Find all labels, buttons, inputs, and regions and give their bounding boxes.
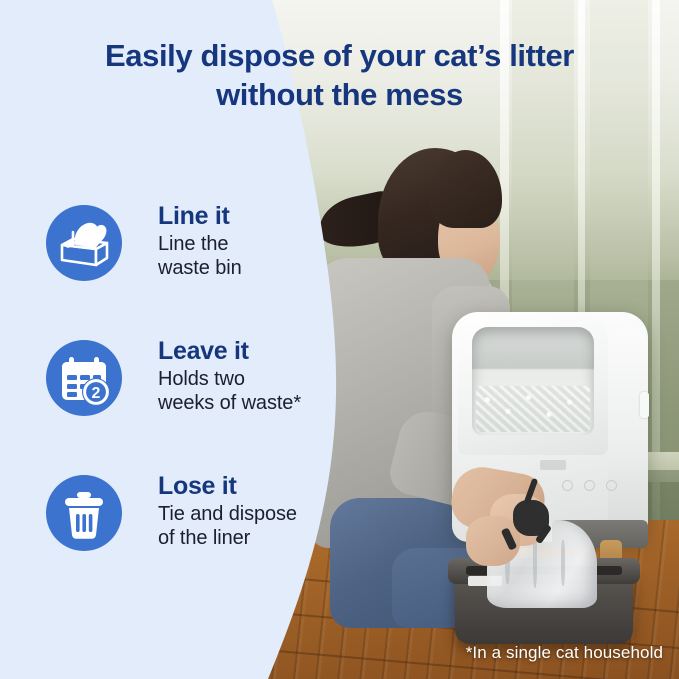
feature-desc-line-2: weeks of waste*: [158, 391, 368, 415]
feature-item-lose-it: Lose it Tie and dispose of the liner: [46, 475, 346, 610]
feature-title: Lose it: [158, 472, 368, 500]
feature-text: Leave it Holds two weeks of waste*: [158, 337, 368, 416]
feature-title: Leave it: [158, 337, 368, 365]
feature-item-line-it: Line it Line the waste bin: [46, 205, 346, 340]
trash-can-icon: [46, 475, 122, 551]
tissue-box-icon: [46, 205, 122, 281]
infographic-canvas: Easily dispose of your cat’s litter with…: [0, 0, 679, 679]
feature-list: Line it Line the waste bin: [46, 205, 346, 610]
footnote-disclaimer: *In a single cat household: [466, 643, 663, 663]
feature-desc-line-2: waste bin: [158, 256, 368, 280]
feature-desc-line-1: Line the: [158, 232, 368, 256]
feature-text: Lose it Tie and dispose of the liner: [158, 472, 368, 551]
calendar-badge-number: 2: [92, 385, 101, 402]
page-title: Easily dispose of your cat’s litter with…: [0, 36, 679, 114]
feature-desc-line-2: of the liner: [158, 526, 368, 550]
feature-desc-line-1: Holds two: [158, 367, 368, 391]
calendar-two-weeks-icon: 2: [46, 340, 122, 416]
feature-text: Line it Line the waste bin: [158, 202, 368, 281]
feature-icon-circle: [46, 205, 122, 281]
litter-box-logo: [540, 460, 566, 470]
feature-item-leave-it: 2 Leave it Holds two weeks of waste*: [46, 340, 346, 475]
litter-box-side-button: [640, 392, 649, 418]
feature-icon-circle: 2: [46, 340, 122, 416]
feature-icon-circle: [46, 475, 122, 551]
litter-crystals: [476, 386, 590, 432]
feature-title: Line it: [158, 202, 368, 230]
headline-line-2: without the mess: [24, 75, 655, 114]
headline-line-1: Easily dispose of your cat’s litter: [24, 36, 655, 75]
feature-desc-line-1: Tie and dispose: [158, 502, 368, 526]
